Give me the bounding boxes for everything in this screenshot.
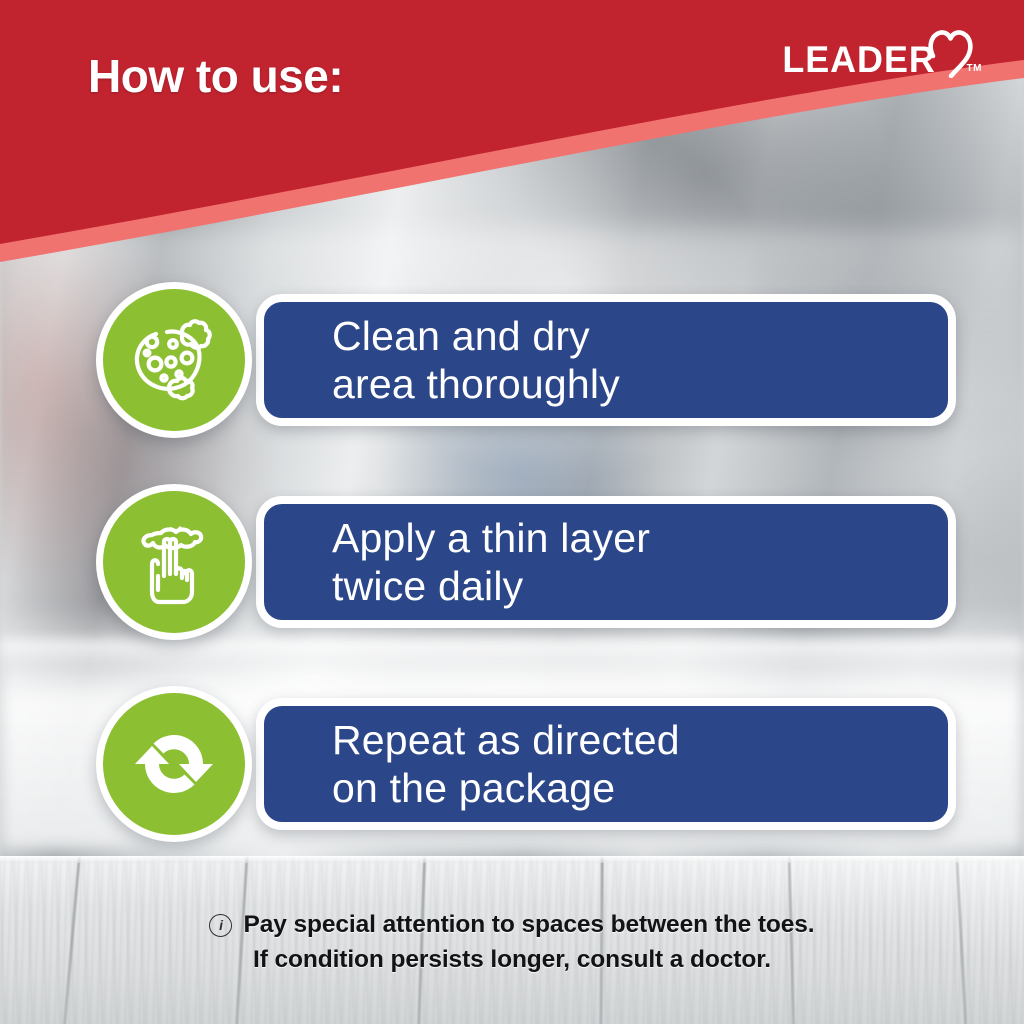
info-circle-icon: i bbox=[209, 914, 232, 937]
sponge-bubbles-icon bbox=[122, 308, 226, 412]
footer-text-primary: Pay special attention to spaces between … bbox=[243, 908, 814, 943]
step-label: Clean and dry area thoroughly bbox=[332, 312, 620, 409]
step-icon-circle bbox=[96, 484, 252, 640]
hand-apply-cream-icon bbox=[124, 512, 224, 612]
how-to-use-infographic: How to use: LEADER TM Clean and dry area… bbox=[0, 0, 1024, 1024]
repeat-arrows-icon bbox=[124, 714, 224, 814]
step-label: Apply a thin layer twice daily bbox=[332, 514, 650, 611]
step-icon-circle bbox=[96, 282, 252, 438]
step-bar: Apply a thin layer twice daily bbox=[256, 496, 956, 628]
step-bar: Repeat as directed on the package bbox=[256, 698, 956, 830]
step-bar: Clean and dry area thoroughly bbox=[256, 294, 956, 426]
footer-text-secondary: If condition persists longer, consult a … bbox=[0, 943, 1024, 978]
footer-note: i Pay special attention to spaces betwee… bbox=[0, 908, 1024, 978]
footer-line-one: i Pay special attention to spaces betwee… bbox=[0, 908, 1024, 943]
step-label: Repeat as directed on the package bbox=[332, 716, 680, 813]
step-icon-circle bbox=[96, 686, 252, 842]
footer-floor: i Pay special attention to spaces betwee… bbox=[0, 856, 1024, 1024]
